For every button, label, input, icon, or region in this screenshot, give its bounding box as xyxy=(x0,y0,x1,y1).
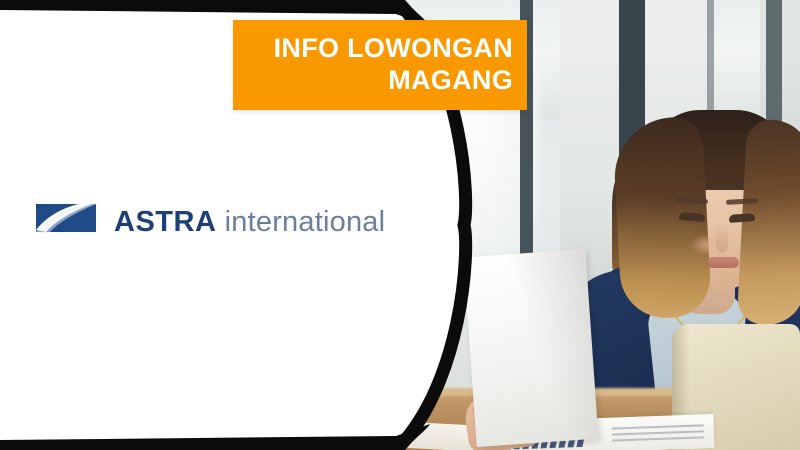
logo-brand-light: international xyxy=(216,206,385,238)
printed-document-fold xyxy=(464,249,599,447)
logo-brand-bold: ASTRA xyxy=(114,206,216,238)
info-banner: INFO LOWONGAN MAGANG xyxy=(233,20,527,110)
banner-title: INFO LOWONGAN MAGANG xyxy=(274,33,527,97)
nose xyxy=(716,224,728,252)
hair-front-right xyxy=(737,118,800,326)
astra-logo-wordmark: ASTRA international xyxy=(114,208,385,237)
report-text-lines xyxy=(612,424,705,445)
astra-swoosh-mark xyxy=(34,196,106,238)
lips xyxy=(707,257,739,268)
poster-canvas: ASTRA international INFO LOWONGAN MAGANG xyxy=(0,0,800,450)
astra-international-logo: ASTRA international xyxy=(34,196,385,238)
